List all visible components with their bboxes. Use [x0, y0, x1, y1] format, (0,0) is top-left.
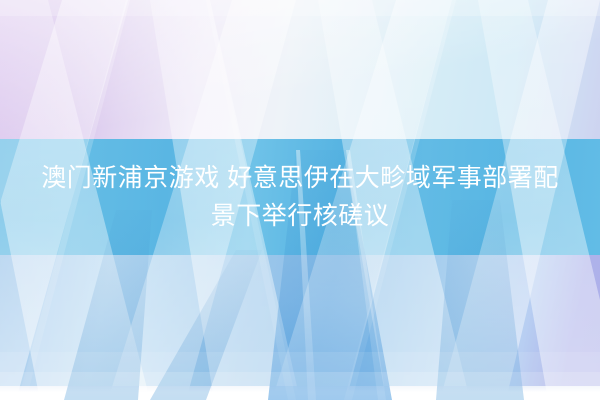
headline-line-2: 景下举行核磋议 [0, 196, 600, 236]
decorative-banner: 澳门新浦京游戏 好意思伊在大畛域军事部署配 景下举行核磋议 [0, 0, 600, 400]
headline-text: 澳门新浦京游戏 好意思伊在大畛域军事部署配 景下举行核磋议 [0, 158, 600, 236]
headline-line-1: 澳门新浦京游戏 好意思伊在大畛域军事部署配 [0, 158, 600, 198]
faint-watermark [262, 380, 342, 396]
